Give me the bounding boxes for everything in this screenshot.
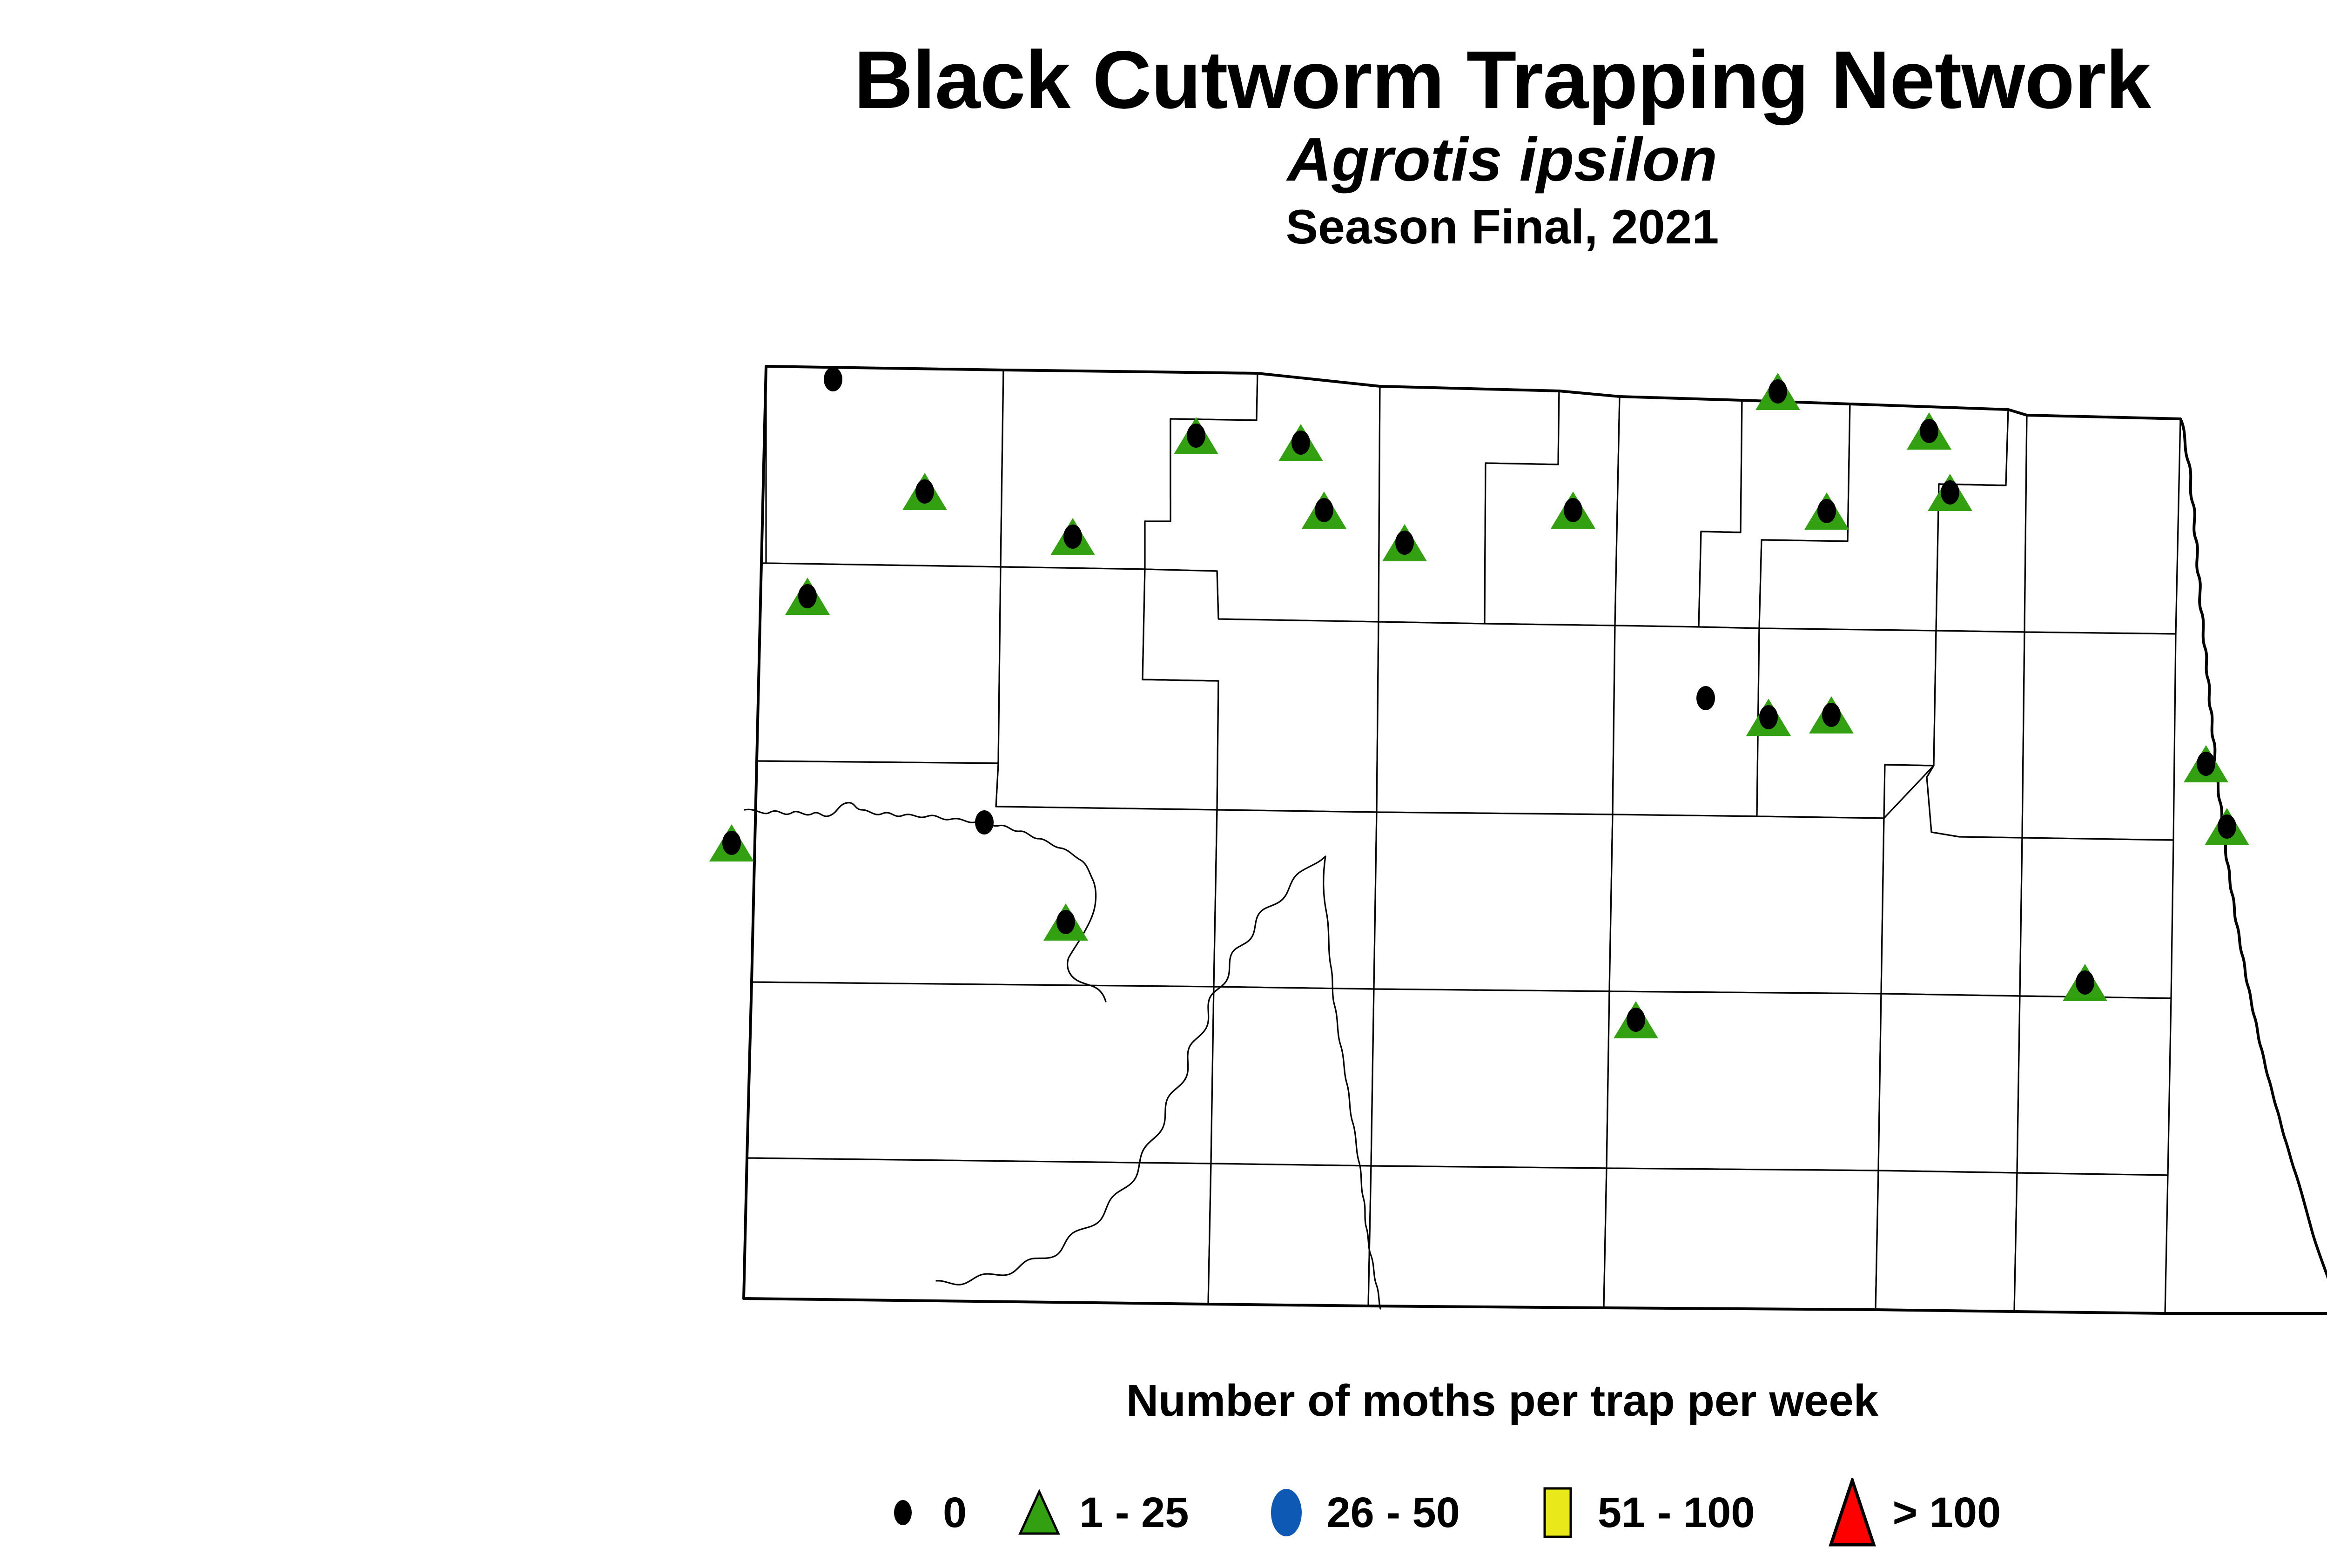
trap-site-marker (2184, 745, 2228, 782)
circle-marker-icon (1822, 703, 1841, 727)
circle-marker-icon (1769, 379, 1787, 404)
north-dakota-map (675, 344, 2327, 1336)
trapping-network-map-page: Black Cutworm Trapping Network Agrotis i… (0, 0, 2327, 1568)
circle-marker-icon (798, 584, 817, 608)
legend-item-1[interactable]: 1 - 25 (1011, 1473, 1189, 1552)
legend-label-1: 1 - 25 (1079, 1488, 1189, 1537)
legend-label-4: > 100 (1892, 1488, 2001, 1537)
circle-marker-icon (875, 1478, 931, 1548)
legend-item-4[interactable]: > 100 (1824, 1473, 2001, 1552)
triangle-marker-icon (1011, 1478, 1067, 1548)
ellipse-marker-icon (1258, 1478, 1314, 1548)
trap-site-marker (2205, 808, 2249, 845)
title-block: Black Cutworm Trapping Network Agrotis i… (0, 37, 2327, 259)
circle-marker-icon (975, 810, 994, 834)
circle-marker-icon (1564, 498, 1582, 522)
circle-marker-icon (1759, 705, 1778, 729)
legend-item-0[interactable]: 0 (875, 1473, 967, 1552)
page-title: Black Cutworm Trapping Network (0, 37, 2327, 123)
circle-marker-icon (824, 367, 842, 391)
square-marker-icon (1530, 1478, 1586, 1548)
triangle-marker-icon (1824, 1478, 1880, 1548)
circle-marker-icon (1395, 531, 1414, 555)
map-svg (675, 344, 2327, 1336)
season-subtitle: Season Final, 2021 (0, 196, 2327, 259)
circle-marker-icon (1941, 480, 1959, 505)
red-river-boundary (2180, 419, 2327, 1313)
circle-marker-icon (1920, 419, 1938, 443)
legend: 0 1 - 25 26 - 50 (875, 1473, 2327, 1552)
circle-marker-icon (722, 831, 741, 855)
legend-title: Number of moths per trap per week (0, 1375, 2327, 1427)
circle-marker-icon (2197, 752, 2215, 776)
legend-item-2[interactable]: 26 - 50 (1258, 1473, 1459, 1552)
trap-site-marker (1755, 373, 1800, 410)
circle-marker-icon (1627, 1008, 1645, 1032)
circle-marker-icon (1063, 525, 1082, 549)
trap-site-marker (975, 810, 994, 834)
circle-marker-icon (1291, 431, 1310, 455)
trap-site-marker (1696, 686, 1715, 710)
circle-marker-icon (915, 479, 934, 504)
circle-marker-icon (1696, 686, 1715, 710)
trap-site-marker (824, 367, 842, 391)
legend-label-2: 26 - 50 (1326, 1488, 1459, 1537)
legend-label-3: 51 - 100 (1598, 1488, 1755, 1537)
scientific-name: Agrotis ipsilon (0, 123, 2327, 196)
circle-marker-icon (2218, 814, 2236, 839)
circle-marker-icon (1056, 910, 1075, 934)
circle-marker-icon (1817, 499, 1836, 523)
circle-marker-icon (1315, 498, 1333, 522)
circle-marker-icon (1187, 424, 1205, 448)
legend-item-3[interactable]: 51 - 100 (1530, 1473, 1755, 1552)
circle-marker-icon (2076, 970, 2094, 995)
legend-label-0: 0 (943, 1488, 967, 1537)
trap-site-marker (709, 824, 754, 861)
